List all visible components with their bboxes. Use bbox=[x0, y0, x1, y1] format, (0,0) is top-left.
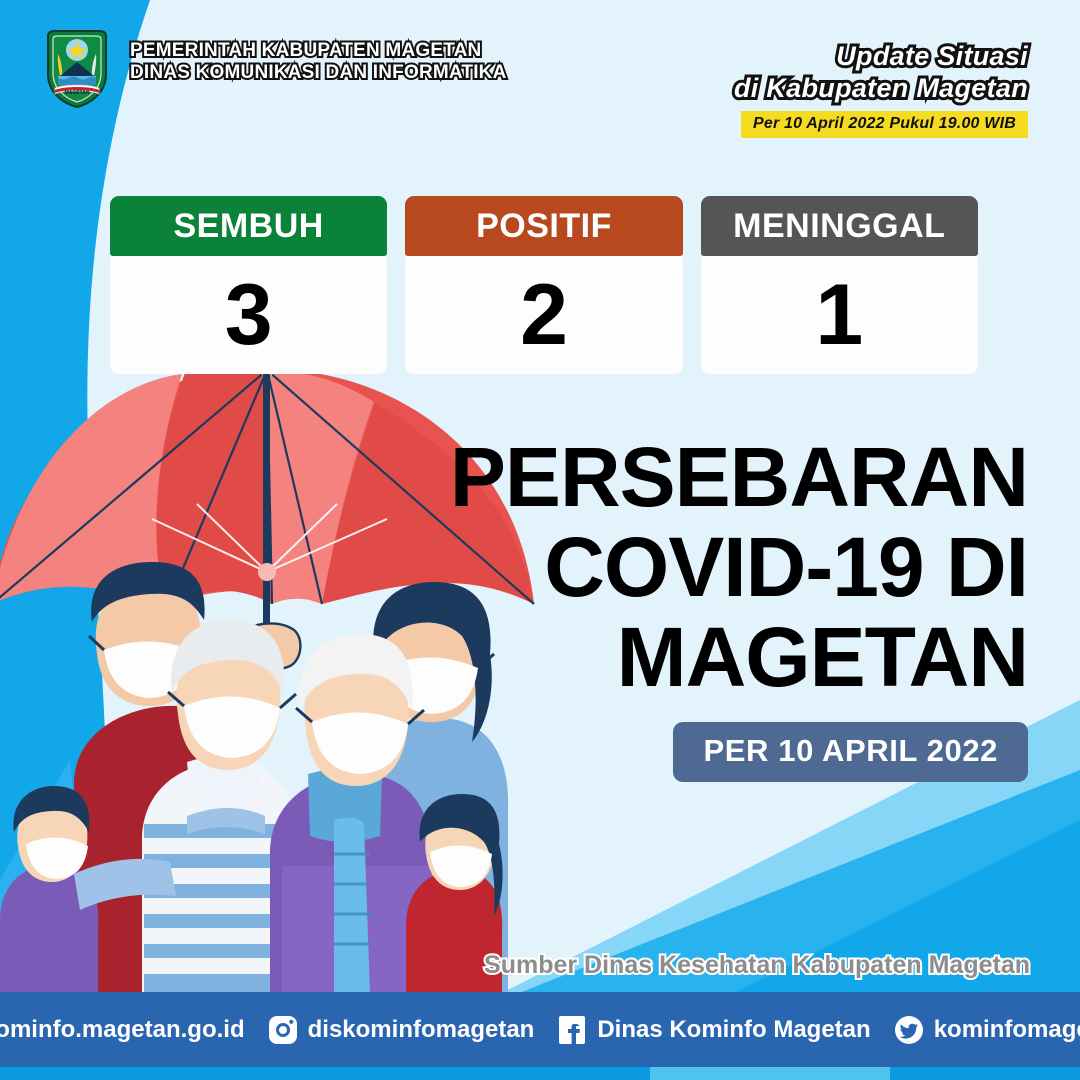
social-facebook[interactable]: Dinas Kominfo Magetan bbox=[556, 1014, 870, 1046]
instagram-label: diskominfomagetan bbox=[308, 1016, 535, 1044]
update-block: Update Situasi di Kabupaten Magetan Per … bbox=[734, 40, 1028, 138]
date-badge: PER 10 APRIL 2022 bbox=[673, 722, 1028, 782]
title-line-2: COVID-19 DI bbox=[428, 522, 1028, 612]
stat-card-meninggal: MENINGGAL 1 bbox=[701, 196, 978, 374]
twitter-label: kominfomagetan1 bbox=[934, 1016, 1080, 1044]
footer-accent-strip bbox=[0, 1067, 1080, 1080]
org-line-2: DINAS KOMUNIKASI DAN INFORMATIKA bbox=[130, 62, 507, 84]
stat-card-sembuh-value: 3 bbox=[110, 256, 387, 374]
header: MAGETAN PEMERINTAH KABUPATEN MAGETAN DIN… bbox=[0, 0, 1080, 170]
stat-card-positif: POSITIF 2 bbox=[405, 196, 682, 374]
title-line-3: MAGETAN bbox=[428, 612, 1028, 702]
twitter-icon bbox=[893, 1014, 925, 1046]
stat-card-positif-value: 2 bbox=[405, 256, 682, 374]
update-timestamp-badge: Per 10 April 2022 Pukul 19.00 WIB bbox=[741, 111, 1028, 138]
statistics-cards: SEMBUH 3 POSITIF 2 MENINGGAL 1 bbox=[110, 196, 978, 374]
title-line-1: PERSEBARAN bbox=[428, 432, 1028, 522]
org-titles: PEMERINTAH KABUPATEN MAGETAN DINAS KOMUN… bbox=[130, 40, 507, 84]
facebook-label: Dinas Kominfo Magetan bbox=[597, 1016, 870, 1044]
org-line-1: PEMERINTAH KABUPATEN MAGETAN bbox=[130, 40, 507, 62]
update-line-2: di Kabupaten Magetan bbox=[734, 72, 1028, 104]
main-title-block: PERSEBARAN COVID-19 DI MAGETAN PER 10 AP… bbox=[428, 432, 1028, 782]
social-instagram[interactable]: diskominfomagetan bbox=[267, 1014, 535, 1046]
facebook-icon bbox=[556, 1014, 588, 1046]
instagram-icon bbox=[267, 1014, 299, 1046]
update-line-1: Update Situasi bbox=[734, 40, 1028, 72]
stat-card-positif-header: POSITIF bbox=[405, 196, 682, 256]
stat-card-meninggal-value: 1 bbox=[701, 256, 978, 374]
stat-card-sembuh-header: SEMBUH bbox=[110, 196, 387, 256]
magetan-coat-of-arms-icon: MAGETAN bbox=[42, 28, 112, 110]
website-label: kominfo.magetan.go.id bbox=[0, 1016, 245, 1044]
social-twitter[interactable]: kominfomagetan1 bbox=[893, 1014, 1080, 1046]
stat-card-sembuh: SEMBUH 3 bbox=[110, 196, 387, 374]
social-website[interactable]: kominfo.magetan.go.id bbox=[0, 1014, 245, 1046]
svg-text:MAGETAN: MAGETAN bbox=[65, 90, 90, 96]
source-note: Sumber Dinas Kesehatan Kabupaten Magetan bbox=[484, 951, 1030, 980]
stat-card-meninggal-header: MENINGGAL bbox=[701, 196, 978, 256]
